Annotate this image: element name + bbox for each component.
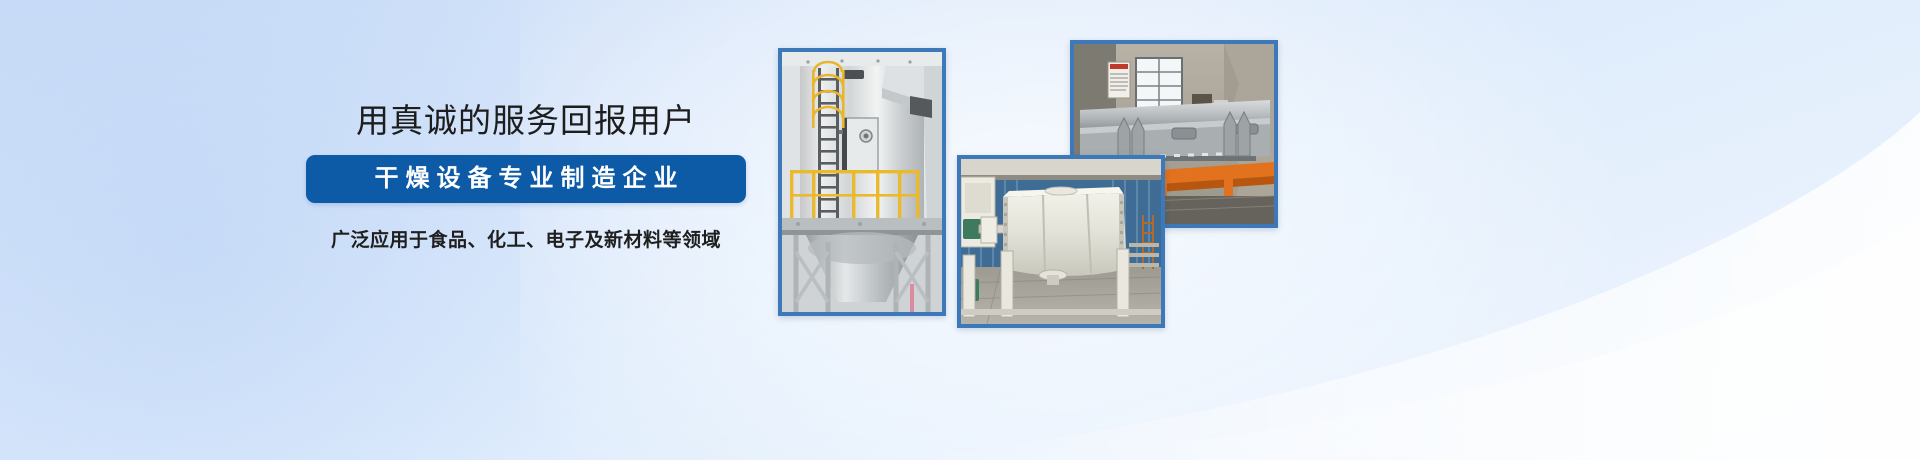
photo-spray-dryer [778,48,946,316]
banner-subtitle: 广泛应用于食品、化工、电子及新材料等领域 [296,225,756,252]
banner-text-block: 用真诚的服务回报用户 干燥设备专业制造企业 广泛应用于食品、化工、电子及新材料等… [296,104,756,252]
photo-ribbon-mixer [957,155,1165,328]
banner-headline: 用真诚的服务回报用户 [296,104,756,137]
hero-banner: 用真诚的服务回报用户 干燥设备专业制造企业 广泛应用于食品、化工、电子及新材料等… [0,0,1920,460]
banner-pill-label: 干燥设备专业制造企业 [306,155,746,203]
